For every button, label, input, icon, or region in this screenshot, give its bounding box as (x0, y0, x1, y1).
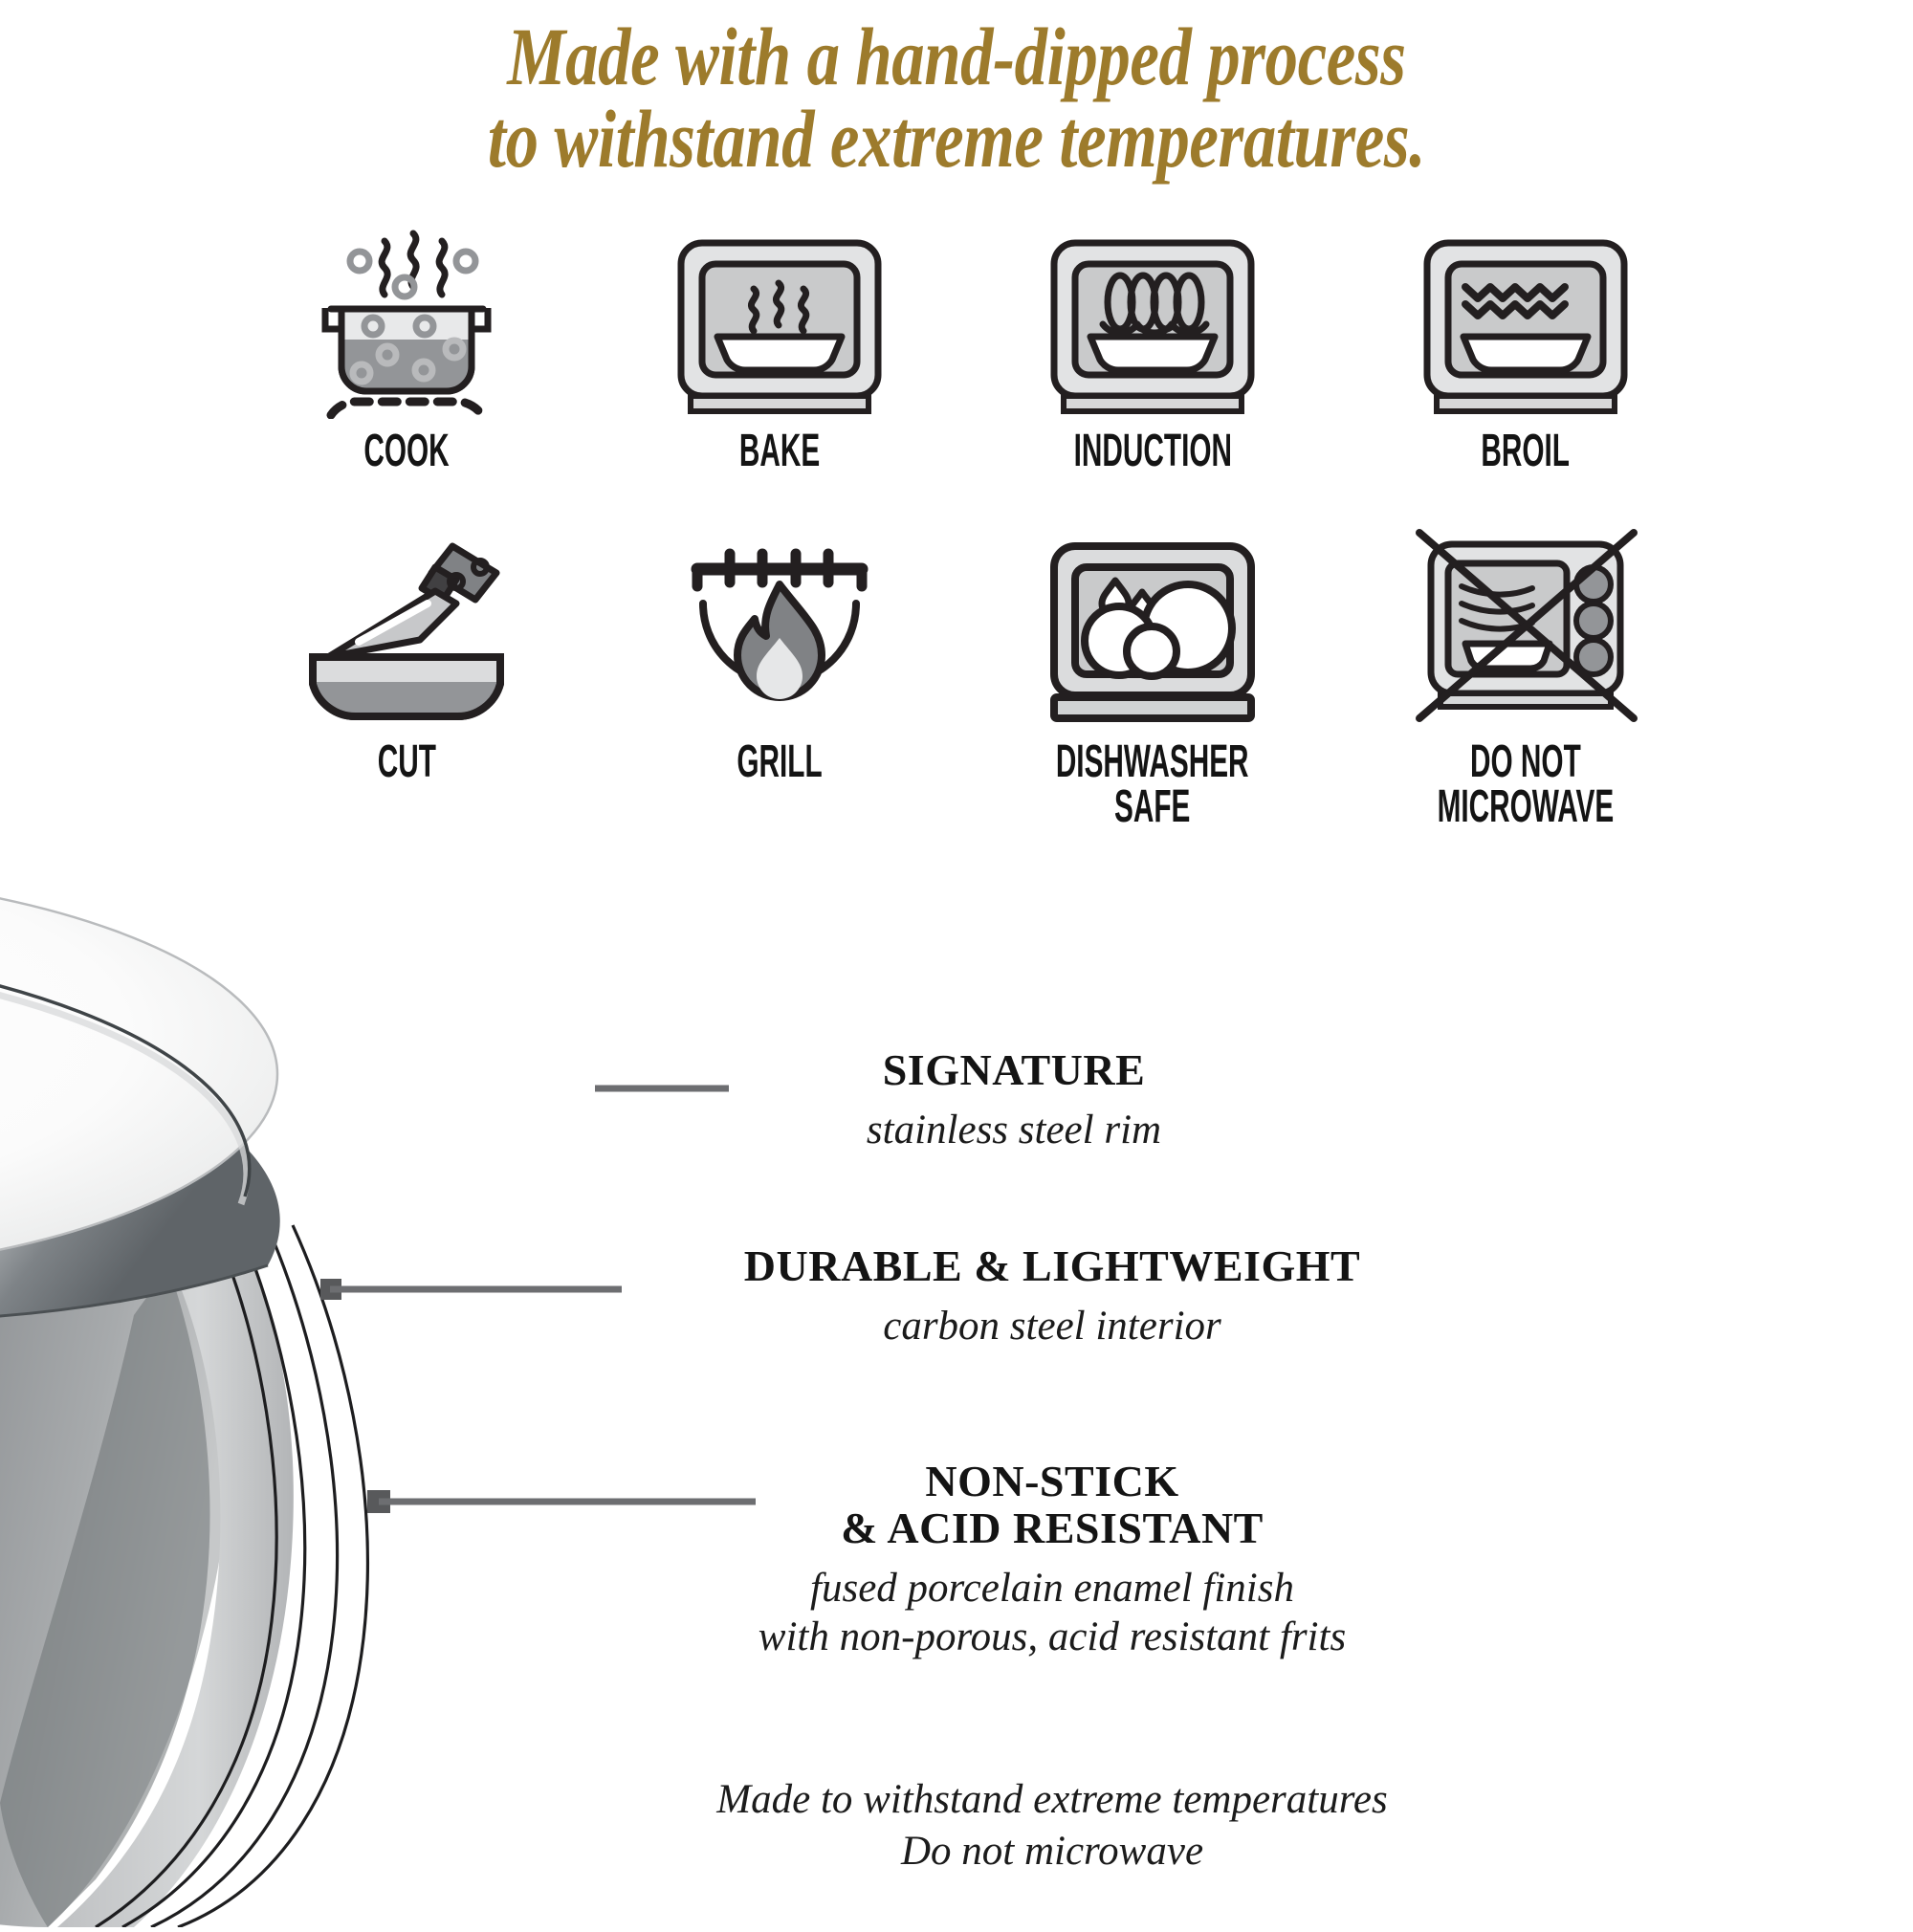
feature-dishwasher-safe-label: DISHWASHER SAFE (1056, 739, 1249, 829)
grill-grate-flame-icon (674, 529, 885, 730)
feature-broil[interactable]: BROIL (1339, 228, 1712, 473)
feature-grill-label: GRILL (737, 739, 822, 784)
callout-signature: SIGNATURE stainless steel rim (708, 1047, 1320, 1154)
oven-induction-coil-icon (1046, 228, 1259, 419)
feature-induction-label: INDUCTION (1073, 428, 1231, 473)
feature-cook[interactable]: COOK (220, 228, 593, 473)
feature-bake[interactable]: BAKE (593, 228, 966, 473)
callout-durable-subtitle: carbon steel interior (612, 1302, 1492, 1351)
headline-line-2: to withstand extreme temperatures. (191, 98, 1722, 180)
feature-cut[interactable]: CUT (220, 529, 593, 829)
oven-bake-icon (673, 228, 886, 419)
pot-boiling-icon (297, 228, 517, 419)
dishwasher-plates-icon (1043, 529, 1263, 730)
callout-durable-title: DURABLE & LIGHTWEIGHT (612, 1243, 1492, 1290)
callout-signature-subtitle: stainless steel rim (708, 1106, 1320, 1155)
page-title: Made with a hand-dipped process to withs… (191, 15, 1722, 180)
feature-dishwasher-safe[interactable]: DISHWASHER SAFE (966, 529, 1339, 829)
knife-over-pan-icon (292, 529, 521, 730)
footer-note: Made to withstand extreme temperatures D… (593, 1774, 1511, 1877)
feature-icon-grid: COOK BA (220, 228, 1712, 829)
feature-broil-label: BROIL (1482, 428, 1571, 473)
feature-do-not-microwave[interactable]: DO NOT MICROWAVE (1339, 529, 1712, 829)
feature-do-not-microwave-label: DO NOT MICROWAVE (1438, 739, 1615, 829)
feature-icon-row-2: CUT (220, 529, 1712, 829)
microwave-crossed-out-icon (1406, 529, 1645, 730)
oven-broil-element-icon (1419, 228, 1632, 419)
callout-nonstick-subtitle: fused porcelain enamel finish with non-p… (593, 1564, 1511, 1662)
callout-nonstick: NON-STICK & ACID RESISTANT fused porcela… (593, 1459, 1511, 1662)
feature-bake-label: BAKE (739, 428, 820, 473)
feature-cook-label: COOK (363, 428, 449, 473)
feature-icon-row-1: COOK BA (220, 228, 1712, 473)
callout-nonstick-title: NON-STICK & ACID RESISTANT (593, 1459, 1511, 1552)
product-bowl-image (0, 818, 746, 1927)
infographic-canvas: Made with a hand-dipped process to withs… (0, 0, 1913, 1913)
headline-line-1: Made with a hand-dipped process (191, 15, 1722, 98)
feature-cut-label: CUT (377, 739, 435, 784)
feature-grill[interactable]: GRILL (593, 529, 966, 829)
callout-durable: DURABLE & LIGHTWEIGHT carbon steel inter… (612, 1243, 1492, 1350)
feature-induction[interactable]: INDUCTION (966, 228, 1339, 473)
callout-signature-title: SIGNATURE (708, 1047, 1320, 1094)
